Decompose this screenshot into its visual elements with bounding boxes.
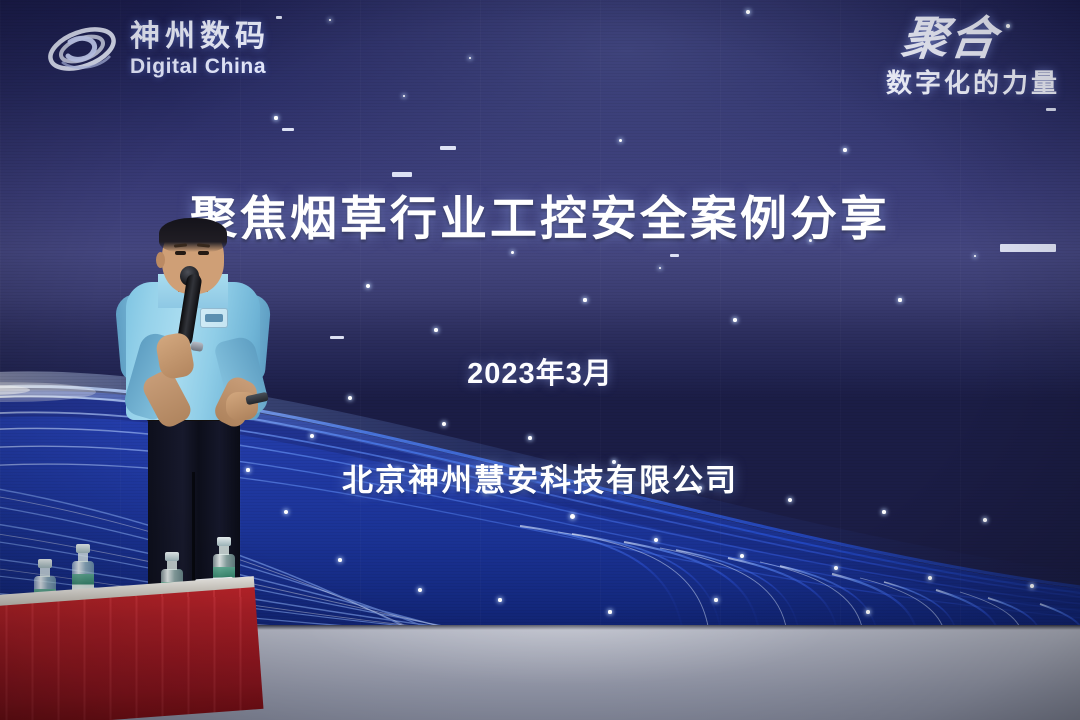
- particle-dot: [843, 148, 847, 152]
- particle-dot: [366, 284, 371, 289]
- streak-mark: [670, 254, 679, 257]
- digital-china-wordmark: 神州数码 Digital China: [130, 22, 270, 77]
- streak-mark: [1046, 108, 1056, 111]
- particle-dot: [974, 255, 977, 258]
- particle-dot: [898, 298, 901, 301]
- particle-dot: [619, 139, 622, 142]
- streak-mark: [440, 146, 456, 150]
- digital-china-cn-text: 神州数码: [130, 22, 270, 52]
- swirl-spiral-icon: [44, 18, 120, 80]
- presenter-hair: [159, 218, 227, 252]
- particle-dot: [403, 95, 405, 97]
- bottle-cap: [217, 537, 231, 546]
- company-badge-icon: [200, 308, 228, 328]
- particle-dot: [746, 10, 750, 14]
- particle-dot: [583, 298, 586, 301]
- bottle-cap: [165, 552, 179, 561]
- particle-dot: [733, 318, 736, 321]
- streak-mark: [392, 172, 412, 177]
- presenter-eye-left: [175, 251, 186, 255]
- particle-dot: [329, 19, 332, 22]
- bottle-cap: [76, 544, 90, 553]
- particle-dot: [274, 116, 277, 119]
- particle-dot: [511, 251, 514, 254]
- floor-light-reflection: [250, 625, 890, 720]
- presenter: [96, 222, 286, 642]
- table-red-skirt: [0, 587, 263, 720]
- presenter-eye-right: [198, 251, 209, 255]
- event-logo-subtitle: 数字化的力量: [810, 63, 1060, 100]
- particle-dot: [469, 57, 472, 60]
- presenter-ear: [156, 252, 165, 268]
- event-logo-calligraphy: 聚合: [807, 16, 1063, 61]
- judges-table: [0, 576, 263, 720]
- particle-dot: [659, 267, 662, 270]
- bottle-cap: [38, 559, 52, 568]
- streak-mark: [276, 16, 282, 19]
- streak-mark: [282, 128, 294, 131]
- digital-china-en-text: Digital China: [130, 56, 270, 77]
- conference-stage-scene: 神州数码 Digital China 聚合 数字化的力量 聚焦烟草行业工控安全案…: [0, 0, 1080, 720]
- digital-china-logo: 神州数码 Digital China: [44, 18, 270, 80]
- event-logo: 聚合 数字化的力量: [810, 16, 1060, 100]
- microphone-tip: [190, 341, 203, 352]
